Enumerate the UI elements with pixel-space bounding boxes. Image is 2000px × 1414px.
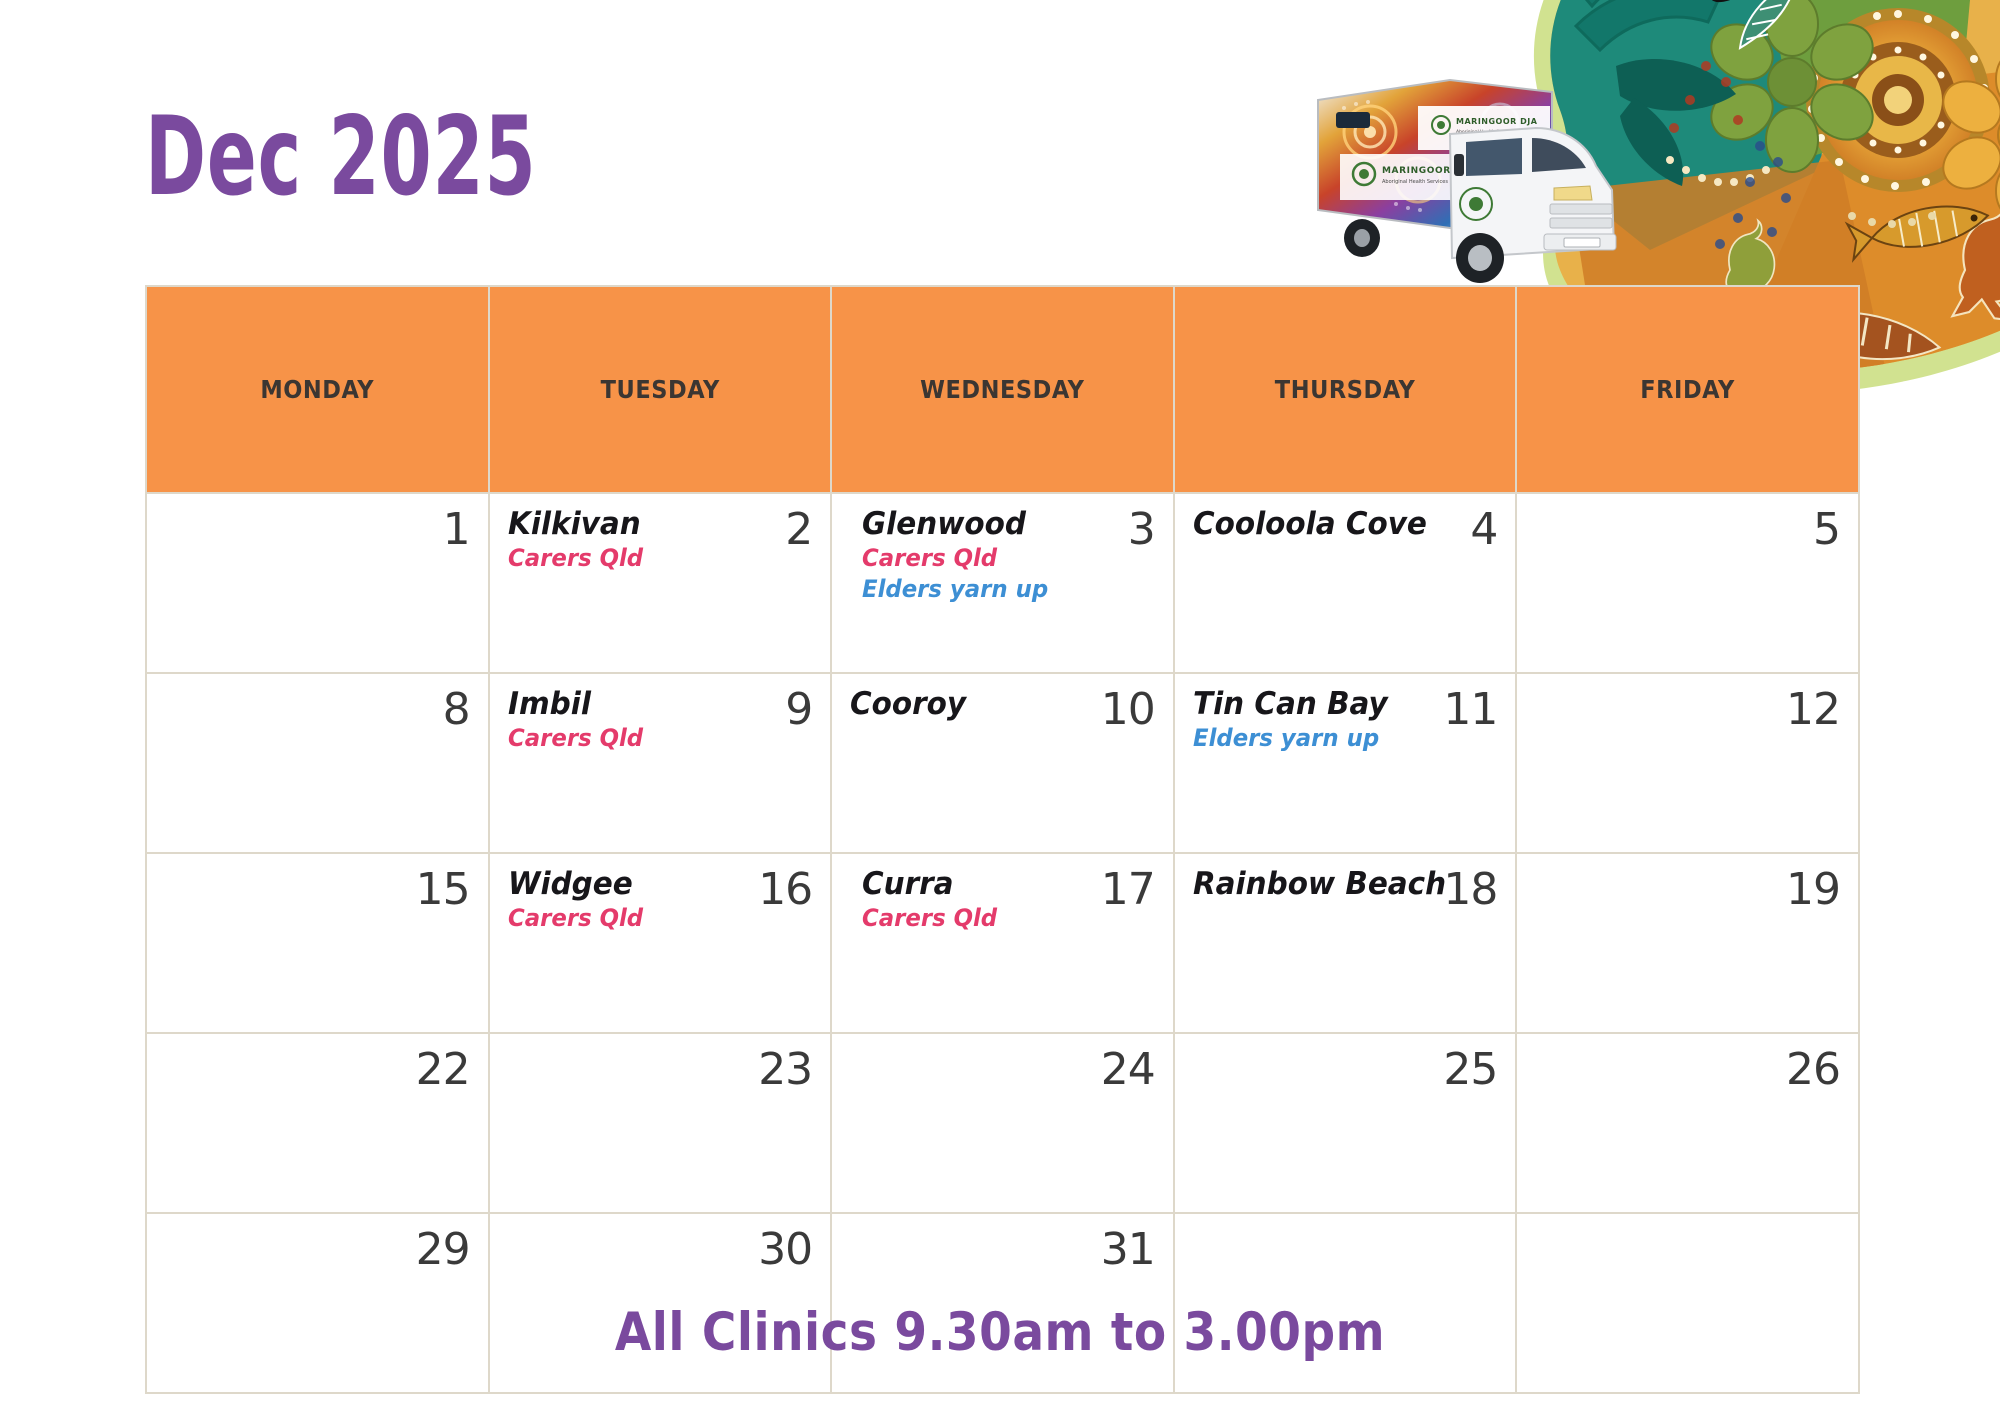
clinic-location: Tin Can Bay <box>1193 688 1484 721</box>
day-cell-content: 18Rainbow Beach <box>1175 854 1516 1032</box>
day-cell-content: 8 <box>147 674 488 852</box>
column-header-tuesday: TUESDAY <box>489 286 832 493</box>
calendar-day-cell[interactable]: 1 <box>146 493 489 673</box>
day-cell-content: 5 <box>1517 494 1858 672</box>
calendar-day-cell[interactable]: 8 <box>146 673 489 853</box>
day-number: 24 <box>1101 1048 1155 1092</box>
day-cell-content: 9ImbilCarers Qld <box>490 674 831 852</box>
page-title: Dec 2025 <box>145 103 537 212</box>
calendar-day-cell[interactable]: 22 <box>146 1033 489 1213</box>
day-cell-content: 16WidgeeCarers Qld <box>490 854 831 1032</box>
day-cell-content: 4Cooloola Cove <box>1175 494 1516 672</box>
day-number: 19 <box>1786 868 1840 912</box>
calendar-day-cell[interactable]: 19 <box>1516 853 1859 1033</box>
day-cell-content: 24 <box>832 1034 1173 1212</box>
calendar-day-cell[interactable]: 23 <box>489 1033 832 1213</box>
day-number: 5 <box>1813 508 1840 552</box>
day-cell-content: 19 <box>1517 854 1858 1032</box>
day-cell-content: 25 <box>1175 1034 1516 1212</box>
day-cell-content: 3GlenwoodCarers QldElders yarn up <box>832 494 1173 672</box>
day-number: 22 <box>416 1048 470 1092</box>
day-number: 1 <box>443 508 470 552</box>
clinic-tag-carers: Carers Qld <box>862 544 1142 573</box>
svg-text:MARINGOOR DJA: MARINGOOR DJA <box>1456 117 1538 126</box>
clinic-tag-carers: Carers Qld <box>508 904 799 933</box>
calendar-week-row: 1516WidgeeCarers Qld17CurraCarers Qld18R… <box>146 853 1859 1033</box>
calendar-week-row: 89ImbilCarers Qld10Cooroy11Tin Can BayEl… <box>146 673 1859 853</box>
clinic-tag-carers: Carers Qld <box>508 544 799 573</box>
clinic-location: Curra <box>862 868 1142 901</box>
calendar-day-cell[interactable]: 12 <box>1516 673 1859 853</box>
calendar-header-row: MONDAY TUESDAY WEDNESDAY THURSDAY FRIDAY <box>146 286 1859 493</box>
day-cell-content: 12 <box>1517 674 1858 852</box>
column-header-wednesday: WEDNESDAY <box>831 286 1174 493</box>
day-cell-content: 26 <box>1517 1034 1858 1212</box>
clinic-tag-elders: Elders yarn up <box>862 575 1142 604</box>
calendar-day-cell[interactable]: 5 <box>1516 493 1859 673</box>
clinic-tag-carers: Carers Qld <box>508 724 799 753</box>
calendar-day-cell[interactable]: 4Cooloola Cove <box>1174 493 1517 673</box>
calendar-day-cell[interactable]: 15 <box>146 853 489 1033</box>
day-number: 29 <box>416 1228 470 1272</box>
calendar-day-cell[interactable]: 2KilkivanCarers Qld <box>489 493 832 673</box>
calendar-day-cell[interactable]: 25 <box>1174 1033 1517 1213</box>
clinic-location: Imbil <box>508 688 799 721</box>
clinic-location: Widgee <box>508 868 799 901</box>
calendar-week-row: 2223242526 <box>146 1033 1859 1213</box>
day-cell-content: 17CurraCarers Qld <box>832 854 1173 1032</box>
clinic-hours-note: All Clinics 9.30am to 3.00pm <box>0 1302 2000 1364</box>
day-cell-content: 2KilkivanCarers Qld <box>490 494 831 672</box>
calendar-day-cell[interactable]: 24 <box>831 1033 1174 1213</box>
calendar-table: MONDAY TUESDAY WEDNESDAY THURSDAY FRIDAY… <box>145 285 1860 1394</box>
calendar-day-cell[interactable]: 3GlenwoodCarers QldElders yarn up <box>831 493 1174 673</box>
calendar-day-cell[interactable]: 10Cooroy <box>831 673 1174 853</box>
calendar-day-cell[interactable]: 26 <box>1516 1033 1859 1213</box>
day-number: 25 <box>1443 1048 1497 1092</box>
day-cell-content: 15 <box>147 854 488 1032</box>
day-cell-content: 23 <box>490 1034 831 1212</box>
day-number: 30 <box>758 1228 812 1272</box>
calendar-body: 12KilkivanCarers Qld3GlenwoodCarers QldE… <box>146 493 1859 1393</box>
svg-text:MARINGOOR DJA: MARINGOOR DJA <box>1382 166 1474 176</box>
day-number: 15 <box>416 868 470 912</box>
column-header-monday: MONDAY <box>146 286 489 493</box>
calendar-day-cell[interactable]: 16WidgeeCarers Qld <box>489 853 832 1033</box>
day-number: 12 <box>1786 688 1840 732</box>
day-number: 8 <box>443 688 470 732</box>
calendar-day-cell[interactable]: 11Tin Can BayElders yarn up <box>1174 673 1517 853</box>
clinic-location: Glenwood <box>862 508 1142 541</box>
mobile-clinic-truck-photo: MARINGOOR DJA Aboriginal Health Services… <box>1300 62 1660 312</box>
day-cell-content: 10Cooroy <box>832 674 1173 852</box>
day-number: 31 <box>1101 1228 1155 1272</box>
calendar-day-cell[interactable]: 18Rainbow Beach <box>1174 853 1517 1033</box>
day-cell-content: 11Tin Can BayElders yarn up <box>1175 674 1516 852</box>
calendar-day-cell[interactable]: 17CurraCarers Qld <box>831 853 1174 1033</box>
clinic-location: Rainbow Beach <box>1193 868 1484 901</box>
svg-text:Aboriginal Health Services: Aboriginal Health Services <box>1382 179 1448 185</box>
day-cell-content: 22 <box>147 1034 488 1212</box>
calendar-day-cell[interactable]: 9ImbilCarers Qld <box>489 673 832 853</box>
clinic-location: Cooroy <box>850 688 1141 721</box>
clinic-location: Kilkivan <box>508 508 799 541</box>
clinic-tag-elders: Elders yarn up <box>1193 724 1484 753</box>
column-header-friday: FRIDAY <box>1516 286 1859 493</box>
day-number: 26 <box>1786 1048 1840 1092</box>
clinic-location: Cooloola Cove <box>1193 508 1484 541</box>
clinic-tag-carers: Carers Qld <box>862 904 1142 933</box>
day-cell-content: 1 <box>147 494 488 672</box>
calendar-week-row: 12KilkivanCarers Qld3GlenwoodCarers QldE… <box>146 493 1859 673</box>
svg-text:Aboriginal Health Services: Aboriginal Health Services <box>1456 129 1516 135</box>
day-number: 23 <box>758 1048 812 1092</box>
column-header-thursday: THURSDAY <box>1174 286 1517 493</box>
